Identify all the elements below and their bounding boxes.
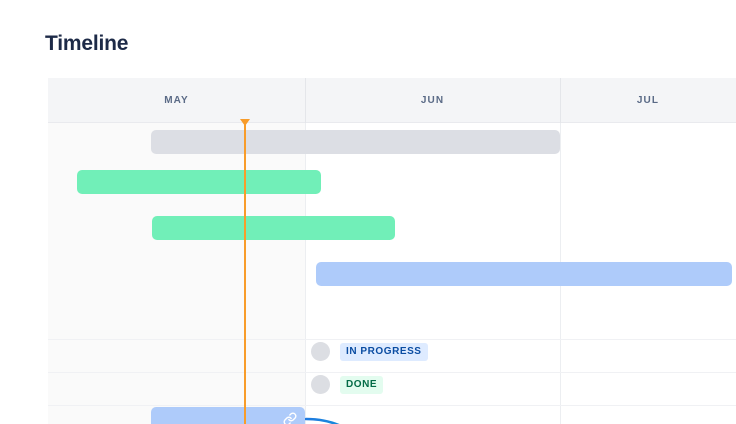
- avatar[interactable]: [311, 375, 330, 394]
- column-divider-jun: [305, 123, 306, 424]
- status-row-done[interactable]: DONE: [311, 375, 383, 394]
- status-badge: DONE: [340, 376, 383, 394]
- column-band-may: [48, 123, 305, 424]
- today-marker[interactable]: [244, 119, 246, 424]
- month-column-jun[interactable]: JUN: [305, 78, 560, 123]
- task-bar-blue-2[interactable]: [151, 407, 305, 424]
- page-title: Timeline: [45, 31, 128, 57]
- month-label-jul: JUL: [637, 95, 659, 106]
- link-icon[interactable]: [283, 412, 297, 424]
- timeline-chart: MAY JUN JUL: [48, 78, 736, 424]
- status-badge: IN PROGRESS: [340, 343, 428, 361]
- avatar[interactable]: [311, 342, 330, 361]
- task-bar-blue-1[interactable]: [316, 262, 732, 286]
- month-label-may: MAY: [164, 95, 189, 106]
- month-label-jun: JUN: [421, 95, 444, 106]
- row-divider: [48, 372, 736, 373]
- task-bar-green-1[interactable]: [77, 170, 321, 194]
- task-bar-grey[interactable]: [151, 130, 560, 154]
- row-divider: [48, 405, 736, 406]
- status-row-in-progress[interactable]: IN PROGRESS: [311, 342, 428, 361]
- month-column-may[interactable]: MAY: [48, 78, 305, 123]
- timeline-month-header: MAY JUN JUL: [48, 78, 736, 123]
- month-column-jul[interactable]: JUL: [560, 78, 736, 123]
- task-bar-green-2[interactable]: [152, 216, 395, 240]
- timeline-grid-body: IN PROGRESS DONE: [48, 123, 736, 424]
- row-divider: [48, 339, 736, 340]
